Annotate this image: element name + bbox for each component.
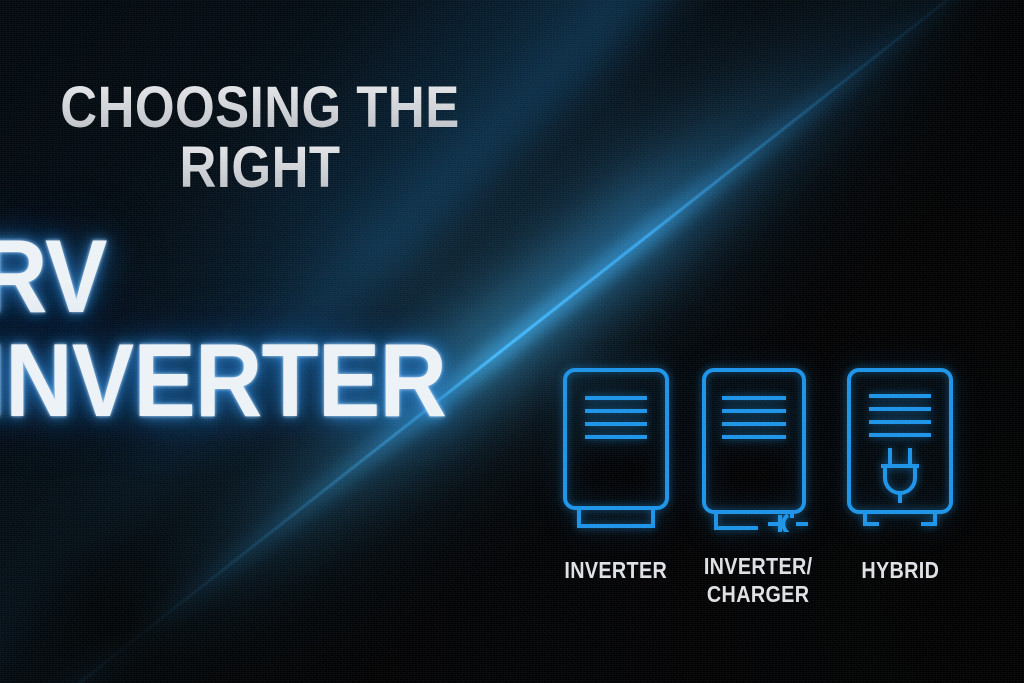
inverter-type-icon-row: INVERTER <box>552 366 964 608</box>
hybrid-inverter-unit-icon <box>845 366 955 532</box>
brand-title: RV INVERTER <box>0 225 484 433</box>
icon-cell-hybrid[interactable]: HYBRID <box>836 366 964 584</box>
icon-cell-inverter-charger[interactable]: INVERTER/ CHARGER <box>694 366 822 608</box>
poster-canvas: CHOOSING THE RIGHT RV INVERTER <box>0 0 1024 683</box>
inverter-unit-icon <box>561 366 671 532</box>
icon-label-inverter: INVERTER <box>565 556 668 584</box>
headline-line-2: RIGHT <box>31 138 489 198</box>
power-plug-icon <box>881 448 919 503</box>
headline-line-1: CHOOSING THE <box>31 78 489 138</box>
brand-title-block: RV INVERTER <box>0 225 540 433</box>
icon-cell-inverter[interactable]: INVERTER <box>552 366 680 584</box>
headline-block: CHOOSING THE RIGHT <box>0 78 520 197</box>
icon-label-hybrid: HYBRID <box>861 556 939 584</box>
inverter-charger-unit-icon <box>700 366 816 532</box>
icon-label-inverter-charger: INVERTER/ CHARGER <box>704 552 813 608</box>
